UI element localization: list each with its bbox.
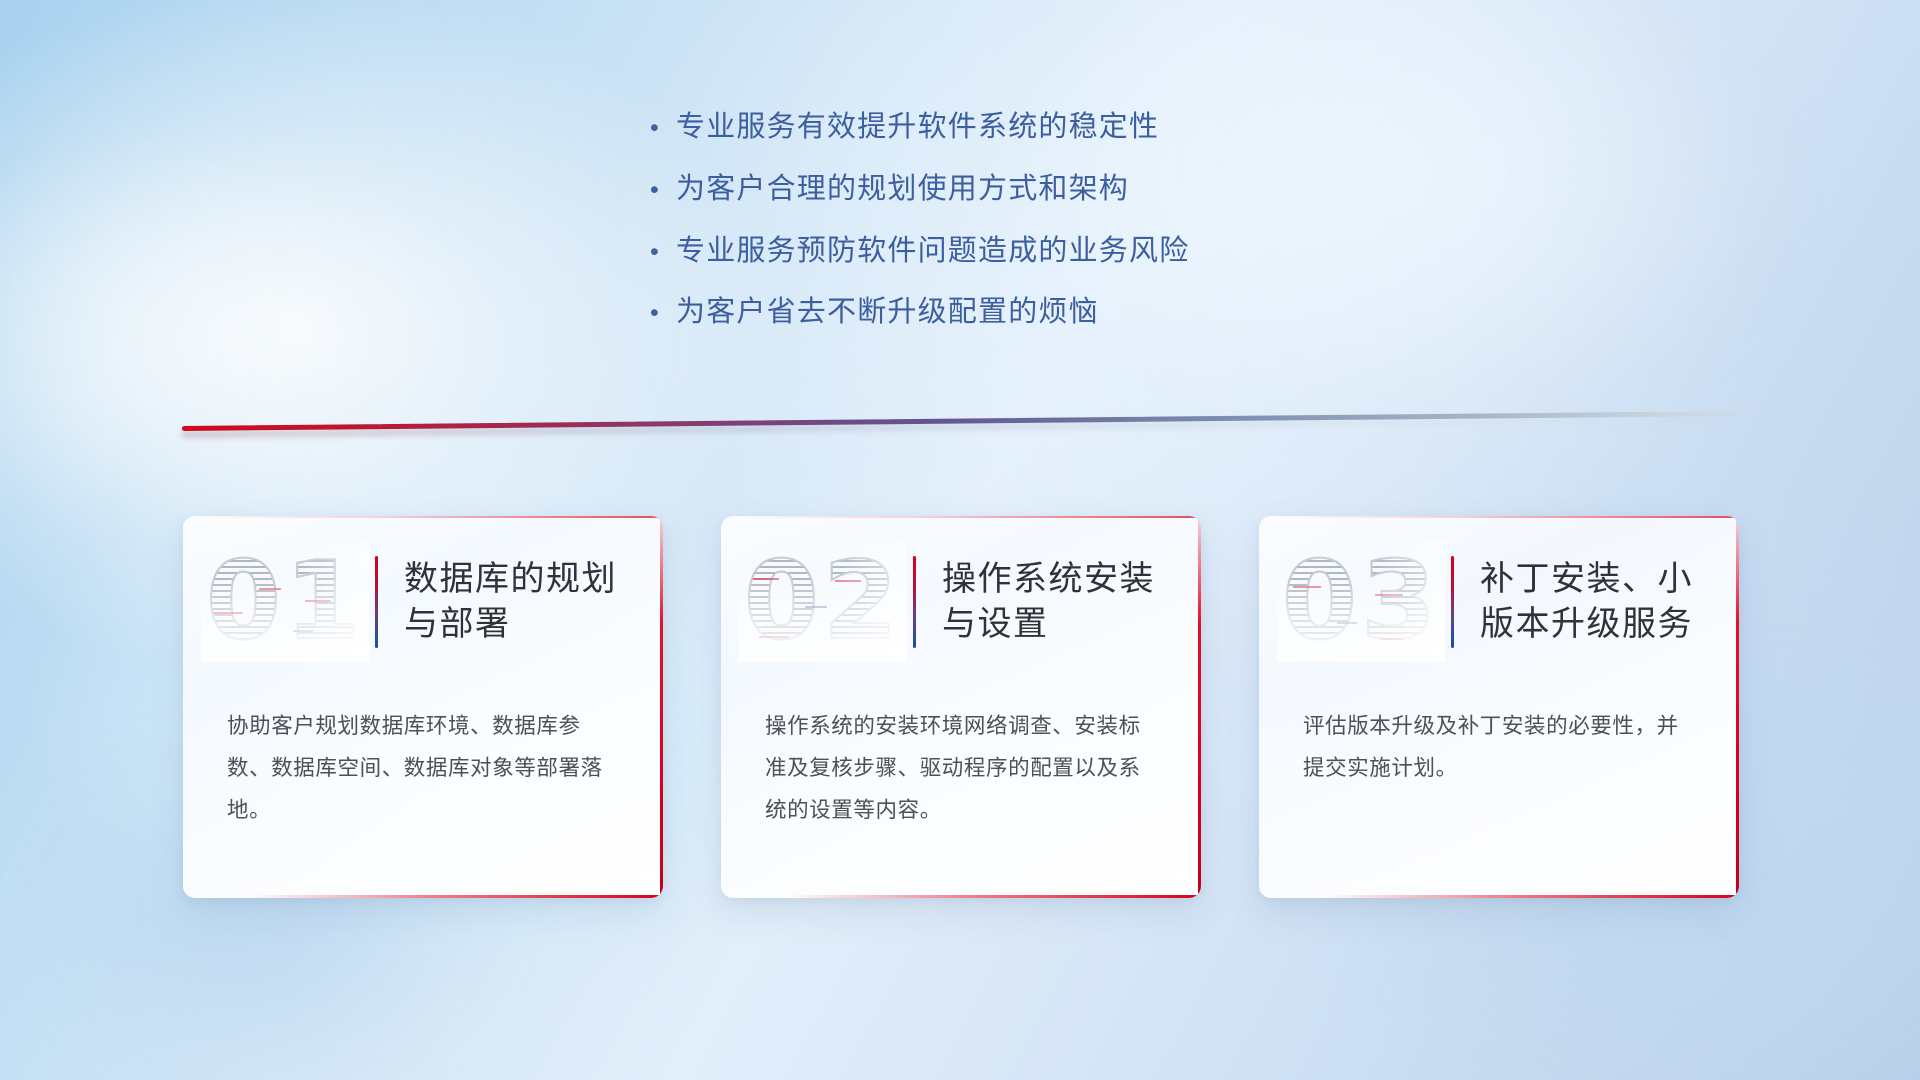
background-glow-left — [0, 120, 520, 560]
card-description: 评估版本升级及补丁安装的必要性，并提交实施计划。 — [1303, 706, 1699, 790]
service-card-group: 01 数据库的规划与部署 协助客户规划数据库环境、数据库参数、数据库空间、数据库… — [183, 516, 1739, 898]
list-item: • 为客户合理的规划使用方式和架构 — [650, 172, 1550, 207]
service-card[interactable]: 02 操作系统安装与设置 操作系统的安装环境网络调查、安装标准及复核步骤、驱动程… — [721, 516, 1201, 898]
bullet-marker-icon: • — [650, 178, 676, 203]
section-divider — [182, 405, 1752, 446]
list-item: • 为客户省去不断升级配置的烦恼 — [650, 295, 1550, 330]
card-title-accent-bar — [913, 556, 916, 648]
benefits-bullet-list: • 专业服务有效提升软件系统的稳定性 • 为客户合理的规划使用方式和架构 • 专… — [650, 110, 1550, 357]
card-bottom-accent — [1326, 895, 1739, 898]
card-header: 02 操作系统安装与设置 — [721, 538, 1201, 666]
service-card[interactable]: 01 数据库的规划与部署 协助客户规划数据库环境、数据库参数、数据库空间、数据库… — [183, 516, 663, 898]
card-title: 补丁安装、小版本升级服务 — [1480, 557, 1739, 647]
card-bottom-accent — [250, 895, 663, 898]
slide-root: • 专业服务有效提升软件系统的稳定性 • 为客户合理的规划使用方式和架构 • 专… — [0, 0, 1920, 1080]
card-description: 操作系统的安装环境网络调查、安装标准及复核步骤、驱动程序的配置以及系统的设置等内… — [765, 706, 1161, 832]
list-item: • 专业服务预防软件问题造成的业务风险 — [650, 234, 1550, 269]
card-bottom-accent — [788, 895, 1201, 898]
bullet-text: 为客户合理的规划使用方式和架构 — [676, 172, 1129, 207]
card-number: 03 — [1282, 548, 1440, 656]
card-description: 协助客户规划数据库环境、数据库参数、数据库空间、数据库对象等部署落地。 — [227, 706, 623, 832]
card-title-accent-bar — [375, 556, 378, 648]
list-item: • 专业服务有效提升软件系统的稳定性 — [650, 110, 1550, 145]
card-number-badge: 01 — [201, 542, 369, 662]
card-title: 操作系统安装与设置 — [942, 557, 1201, 647]
card-title: 数据库的规划与部署 — [404, 557, 663, 647]
card-title-accent-bar — [1451, 556, 1454, 648]
card-top-accent — [193, 516, 663, 518]
bullet-marker-icon: • — [650, 116, 676, 141]
bullet-marker-icon: • — [650, 240, 676, 265]
bullet-text: 专业服务预防软件问题造成的业务风险 — [676, 234, 1189, 269]
bullet-text: 为客户省去不断升级配置的烦恼 — [676, 295, 1099, 330]
bullet-text: 专业服务有效提升软件系统的稳定性 — [676, 110, 1159, 145]
card-number-badge: 02 — [739, 542, 907, 662]
card-number: 02 — [744, 548, 902, 656]
card-header: 03 补丁安装、小版本升级服务 — [1259, 538, 1739, 666]
card-number-badge: 03 — [1277, 542, 1445, 662]
card-number: 01 — [206, 548, 364, 656]
card-header: 01 数据库的规划与部署 — [183, 538, 663, 666]
service-card[interactable]: 03 补丁安装、小版本升级服务 评估版本升级及补丁安装的必要性，并提交实施计划。 — [1259, 516, 1739, 898]
card-top-accent — [1269, 516, 1739, 518]
card-top-accent — [731, 516, 1201, 518]
bullet-marker-icon: • — [650, 301, 676, 326]
